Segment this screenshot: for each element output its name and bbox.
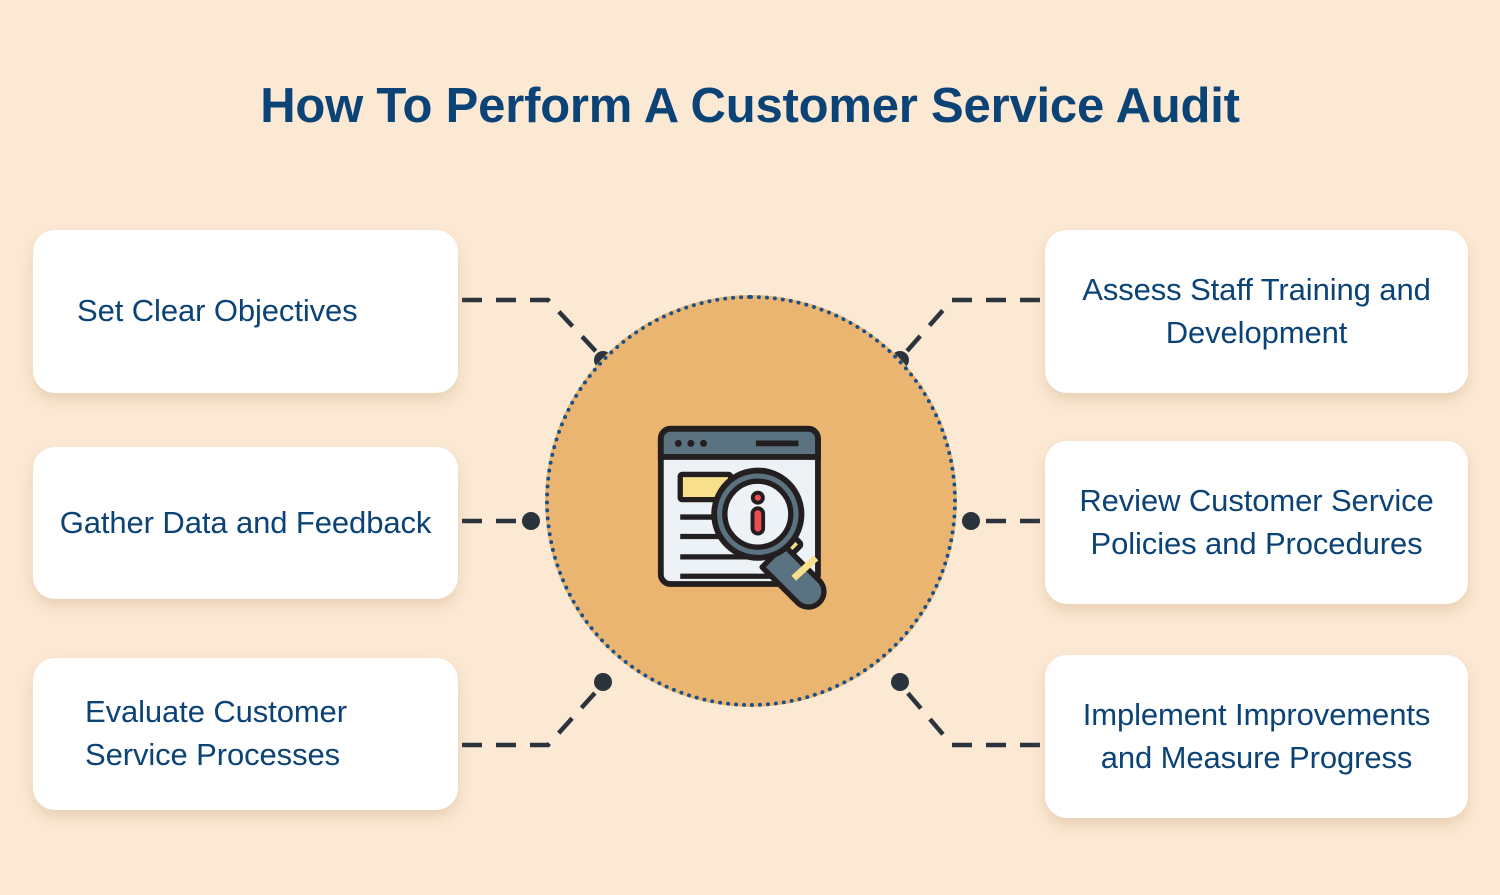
- step-card-label: Assess Staff Training and Development: [1063, 269, 1450, 355]
- infographic-canvas: How To Perform A Customer Service Audit: [0, 0, 1500, 895]
- step-card-assess-staff-training-and-development[interactable]: Assess Staff Training and Development: [1045, 230, 1468, 393]
- step-card-label: Review Customer Service Policies and Pro…: [1063, 480, 1450, 566]
- connector-right-3: [900, 684, 1040, 745]
- junction-dot-right-3: [891, 673, 909, 691]
- connector-right-1: [900, 300, 1040, 359]
- step-card-set-clear-objectives[interactable]: Set Clear Objectives: [33, 230, 458, 393]
- step-card-evaluate-customer-service-processes[interactable]: Evaluate Customer Service Processes: [33, 658, 458, 810]
- website-audit-magnifier-icon: [655, 423, 849, 617]
- step-card-review-customer-service-policies-and-procedures[interactable]: Review Customer Service Policies and Pro…: [1045, 441, 1468, 604]
- junction-dot-left-3: [594, 673, 612, 691]
- junction-dot-right-2: [962, 512, 980, 530]
- step-card-implement-improvements-and-measure-progress[interactable]: Implement Improvements and Measure Progr…: [1045, 655, 1468, 818]
- connector-left-3: [462, 684, 603, 745]
- connector-left-1: [462, 300, 603, 359]
- step-card-label: Gather Data and Feedback: [60, 502, 432, 545]
- step-card-gather-data-and-feedback[interactable]: Gather Data and Feedback: [33, 447, 458, 599]
- step-card-label: Evaluate Customer Service Processes: [51, 691, 440, 777]
- junction-dot-left-2: [522, 512, 540, 530]
- step-card-label: Implement Improvements and Measure Progr…: [1063, 694, 1450, 780]
- step-card-label: Set Clear Objectives: [51, 290, 440, 333]
